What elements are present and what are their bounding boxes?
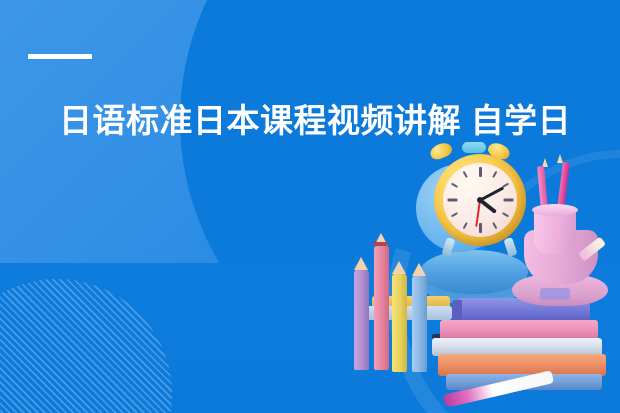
clock-tick xyxy=(492,222,497,229)
page-title: 日语标准日本课程视频讲解 自学日 xyxy=(59,104,579,139)
pen-holder-rim xyxy=(532,204,578,216)
clock-tick xyxy=(479,223,482,233)
clock-tick xyxy=(451,212,458,217)
clock-tick xyxy=(479,167,482,177)
pencil-lead xyxy=(373,242,388,246)
clock-tick xyxy=(451,183,458,188)
clock-tick xyxy=(447,199,457,202)
pen-tip xyxy=(557,154,563,163)
course-banner: 日语标准日本课程视频讲解 自学日 xyxy=(0,0,620,413)
clock-tick xyxy=(463,222,468,229)
pencil-tip xyxy=(412,263,426,276)
pencil-yellow xyxy=(392,274,407,372)
clock-tick xyxy=(503,199,513,202)
book-pink xyxy=(440,320,598,340)
clock-tick xyxy=(492,171,497,178)
marker-cap xyxy=(443,389,469,407)
pencil-tip xyxy=(392,261,406,274)
clock-button xyxy=(462,142,486,153)
book-spine xyxy=(452,300,462,320)
pencil-purple xyxy=(354,270,369,370)
pen-holder-band xyxy=(540,288,570,300)
pen-holder-icon xyxy=(512,226,608,306)
accent-rule xyxy=(28,54,92,59)
clock-tick xyxy=(463,171,468,178)
clock-face xyxy=(443,163,517,237)
clock-center-cap xyxy=(477,197,483,203)
book-orange xyxy=(438,354,606,376)
clock-tick xyxy=(502,212,509,217)
pencil-tip xyxy=(354,257,368,270)
pencil-blue xyxy=(412,276,427,372)
study-supplies-illustration xyxy=(336,146,620,413)
pencil-pink xyxy=(374,246,389,370)
